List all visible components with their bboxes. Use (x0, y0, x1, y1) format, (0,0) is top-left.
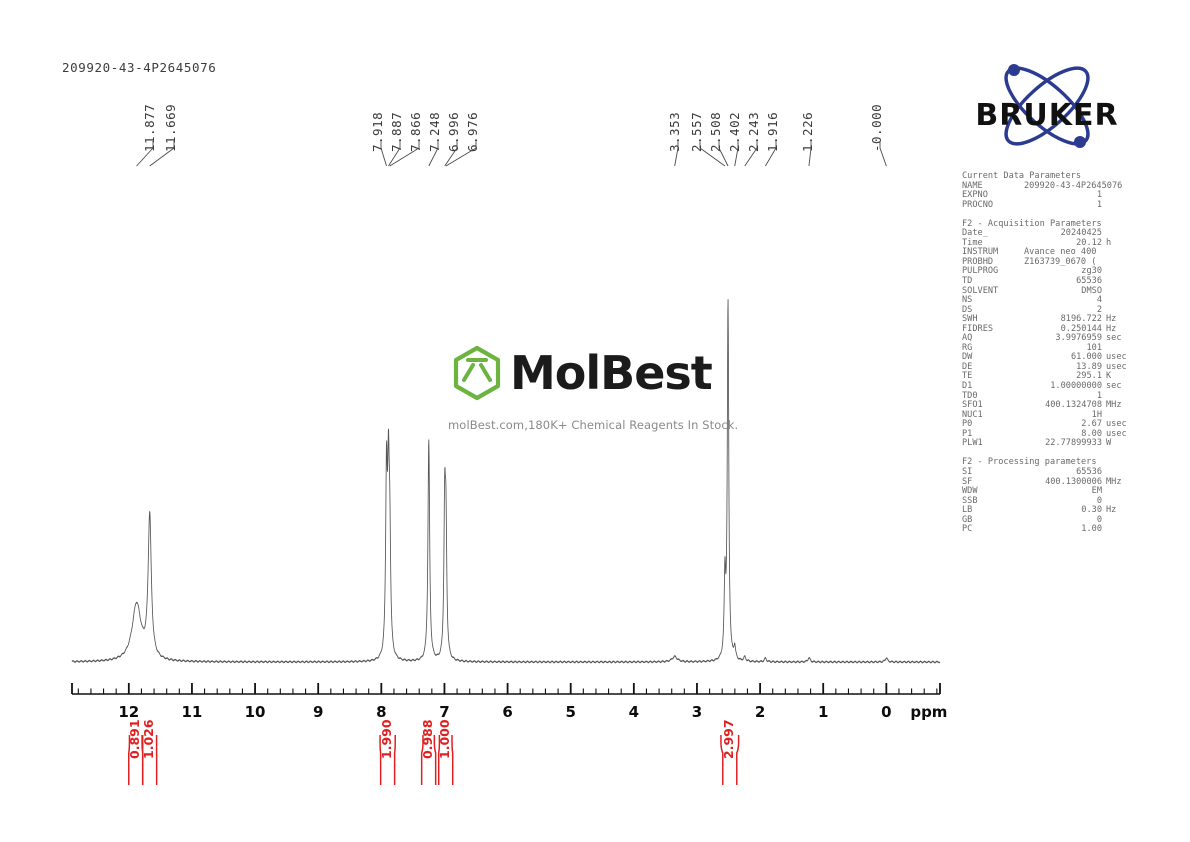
axis-tick-label: 9 (313, 703, 323, 721)
axis-tick-label: 4 (629, 703, 639, 721)
axis-tick-label: 5 (565, 703, 575, 721)
integral-value-label: 2.997 (721, 719, 736, 759)
axis-unit-label: ppm (910, 703, 947, 721)
integral-value-label: 0.891 (127, 719, 142, 759)
nmr-spectrum-page: 209920-43-4P2645076 BRUKER Current Data … (0, 0, 1190, 842)
axis-tick-label: 2 (755, 703, 765, 721)
axis-tick-label: 10 (245, 703, 266, 721)
ppm-axis: 1211109876543210ppm0.8911.0261.9900.9881… (0, 0, 1190, 842)
axis-tick-label: 11 (182, 703, 203, 721)
axis-tick-label: 0 (881, 703, 891, 721)
axis-tick-label: 12 (118, 703, 139, 721)
axis-tick-label: 3 (692, 703, 702, 721)
integral-value-label: 1.990 (379, 719, 394, 759)
axis-tick-label: 6 (502, 703, 512, 721)
axis-tick-label: 1 (818, 703, 828, 721)
integral-value-label: 1.026 (141, 719, 156, 759)
integral-value-label: 1.000 (437, 719, 452, 759)
integral-value-label: 0.988 (420, 719, 435, 759)
